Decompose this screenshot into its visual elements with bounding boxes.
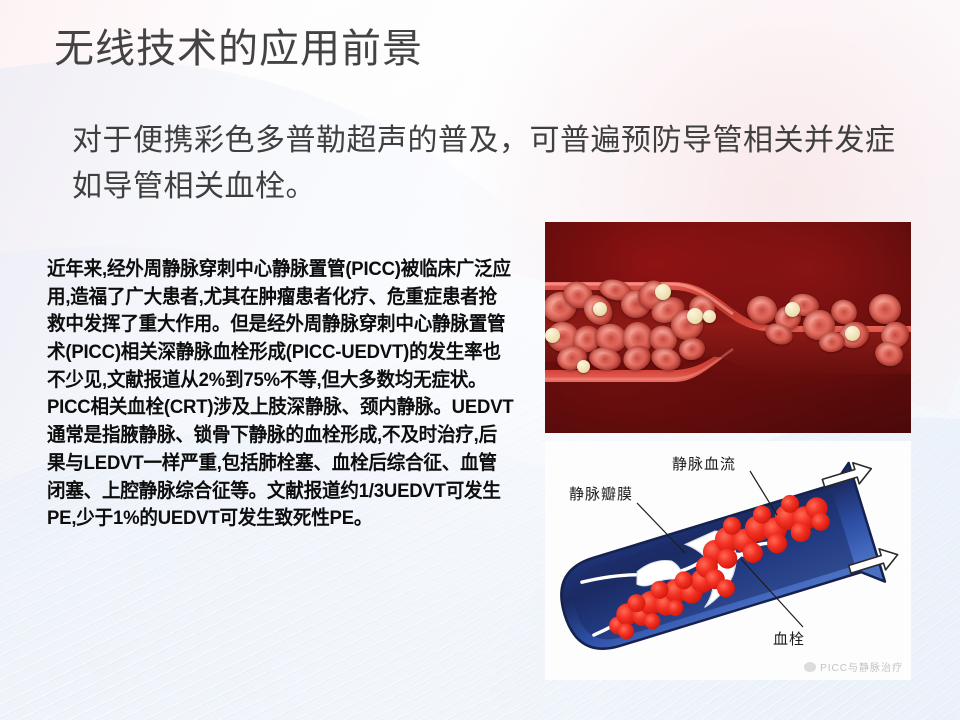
- label-thrombus: 血栓: [773, 628, 805, 649]
- watermark-text: PICC与静脉治疗: [820, 659, 903, 674]
- platelet: [785, 302, 800, 317]
- platelet: [687, 308, 703, 324]
- platelet: [845, 326, 860, 341]
- body-text-block: 近年来,经外周静脉穿刺中心静脉置管(PICC)被临床广泛应用,造福了广大患者,尤…: [47, 256, 514, 533]
- red-blood-cell-cluster: [545, 280, 911, 380]
- platelet: [577, 360, 590, 373]
- label-venous-valve: 静脉瓣膜: [569, 483, 633, 504]
- watermark-logo-icon: [804, 662, 816, 672]
- platelet: [593, 302, 607, 316]
- slide-subtitle: 对于便携彩色多普勒超声的普及，可普遍预防导管相关并发症如导管相关血栓。: [72, 118, 902, 209]
- blood-vessel-render-image: [545, 222, 911, 433]
- presentation-slide: 无线技术的应用前景 对于便携彩色多普勒超声的普及，可普遍预防导管相关并发症如导管…: [0, 0, 960, 720]
- label-venous-blood-flow: 静脉血流: [672, 453, 736, 474]
- platelet: [545, 328, 560, 343]
- image-watermark: PICC与静脉治疗: [804, 659, 903, 674]
- platelet: [655, 284, 671, 300]
- vein-thrombus-diagram-image: 静脉血流 静脉瓣膜 血栓 PICC与静脉治疗: [545, 441, 911, 680]
- body-paragraph-2: PICC相关血栓(CRT)涉及上肢深静脉、颈内静脉。UEDVT通常是指腋静脉、锁…: [47, 394, 514, 532]
- body-paragraph-1: 近年来,经外周静脉穿刺中心静脉置管(PICC)被临床广泛应用,造福了广大患者,尤…: [47, 256, 514, 394]
- slide-title: 无线技术的应用前景: [54, 26, 423, 72]
- platelet: [703, 310, 716, 323]
- vein-diagram-graphic: [545, 441, 911, 680]
